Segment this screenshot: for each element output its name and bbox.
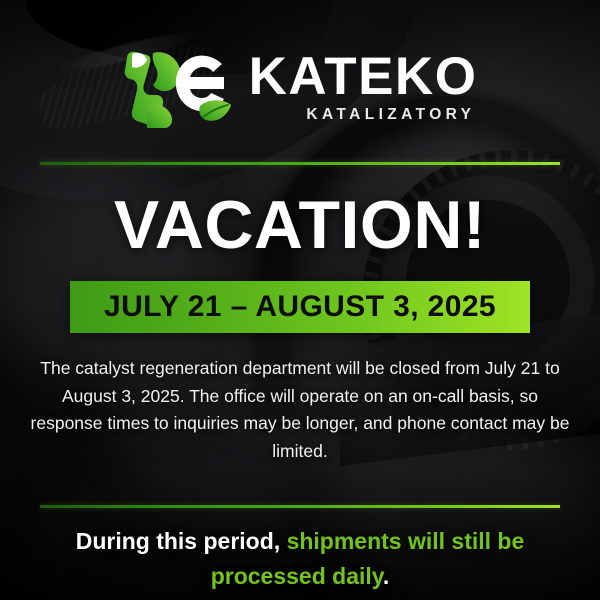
brand-wordmark-group: KATEKO KATALIZATORY (249, 52, 478, 126)
page-title: VACATION! (114, 191, 486, 259)
leaf-icon (199, 100, 231, 121)
top-divider (40, 162, 560, 165)
date-range-text: JULY 21 – AUGUST 3, 2025 (104, 290, 496, 324)
brand-logo: KATEKO KATALIZATORY (123, 48, 478, 130)
announcement-paragraph: The catalyst regeneration department wil… (30, 355, 570, 466)
closing-statement: During this period, shipments will still… (50, 524, 550, 593)
date-range-banner: JULY 21 – AUGUST 3, 2025 (70, 281, 530, 333)
vacation-announcement-poster: KATEKO KATALIZATORY VACATION! JULY 21 – … (0, 0, 600, 600)
ke-monogram-logo (123, 50, 235, 128)
bottom-divider (40, 505, 560, 508)
poster-content: KATEKO KATALIZATORY VACATION! JULY 21 – … (0, 0, 600, 600)
brand-wordmark: KATEKO (249, 52, 478, 102)
brand-tagline: KATALIZATORY (306, 106, 475, 124)
logo-k-shape (124, 52, 180, 128)
closing-lead: During this period, (76, 528, 287, 554)
closing-period: . (383, 563, 389, 589)
